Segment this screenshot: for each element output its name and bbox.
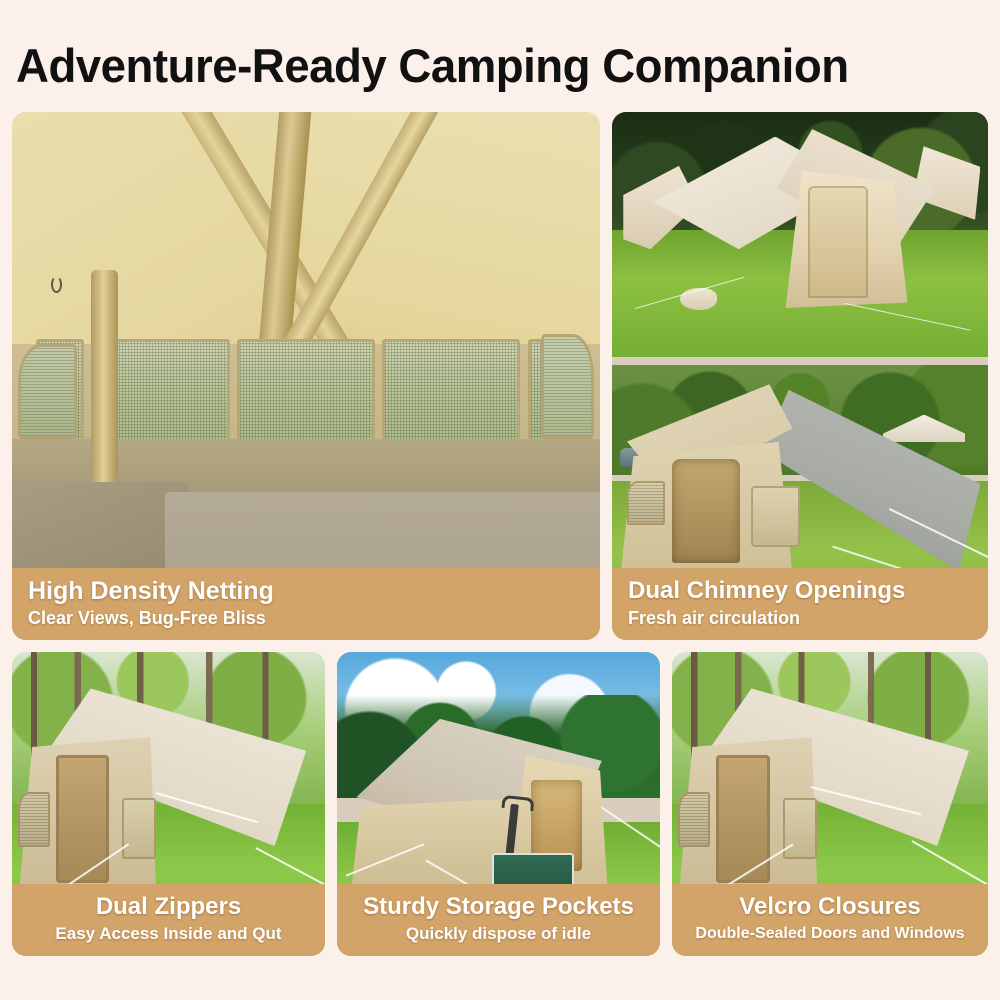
feature-card-sturdy-storage-pockets[interactable]: Sturdy Storage Pockets Quickly dispose o… [337,652,660,956]
side-mesh-window-left [18,344,77,439]
mesh-window-3 [237,339,375,455]
feature-card-high-density-netting[interactable]: High Density Netting Clear Views, Bug-Fr… [12,112,600,640]
caption-subtitle: Quickly dispose of idle [343,922,654,946]
mesh-window-side [18,792,49,847]
feature-card-velcro-closures[interactable]: Velcro Closures Double-Sealed Doors and … [672,652,988,956]
caption-subtitle: Clear Views, Bug-Free Bliss [28,606,586,630]
caption-title: Dual Zippers [18,892,319,922]
tent-door-panel [56,755,109,883]
feature-card-dual-zippers[interactable]: Dual Zippers Easy Access Inside and Qut [12,652,325,956]
mesh-window-4 [382,339,520,455]
photo-cream-tent-lawn [612,112,988,357]
caption-title: Sturdy Storage Pockets [343,892,654,922]
caption-bar: High Density Netting Clear Views, Bug-Fr… [12,568,600,640]
gear-hook-icon [51,276,62,293]
caption-title: High Density Netting [28,576,586,606]
caption-title: Velcro Closures [678,892,982,922]
inflatable-pole [91,270,117,481]
photo-tent-interior [12,112,600,640]
caption-subtitle: Fresh air circulation [628,606,974,630]
mesh-window-front [122,798,156,859]
caption-bar: Sturdy Storage Pockets Quickly dispose o… [337,884,660,956]
caption-subtitle: Easy Access Inside and Qut [18,922,319,946]
page-title: Adventure-Ready Camping Companion [16,38,955,94]
storage-bag [680,288,718,310]
tent-door [808,186,868,299]
mesh-window-side [678,792,710,847]
feature-card-dual-chimney-openings[interactable]: Dual Chimney Openings Fresh air circulat… [612,112,988,640]
side-mesh-window-right [541,334,594,440]
caption-title: Dual Chimney Openings [628,576,974,606]
mesh-window-front [783,798,818,859]
caption-bar: Velcro Closures Double-Sealed Doors and … [672,884,988,956]
mesh-window-side [627,481,665,525]
product-feature-collage: Adventure-Ready Camping Companion [0,0,1000,1000]
chimney-door-opening [672,459,740,564]
caption-bar: Dual Zippers Easy Access Inside and Qut [12,884,325,956]
caption-bar: Dual Chimney Openings Fresh air circulat… [612,568,988,640]
mesh-window-front [751,486,800,547]
caption-subtitle: Double-Sealed Doors and Windows [678,922,982,946]
